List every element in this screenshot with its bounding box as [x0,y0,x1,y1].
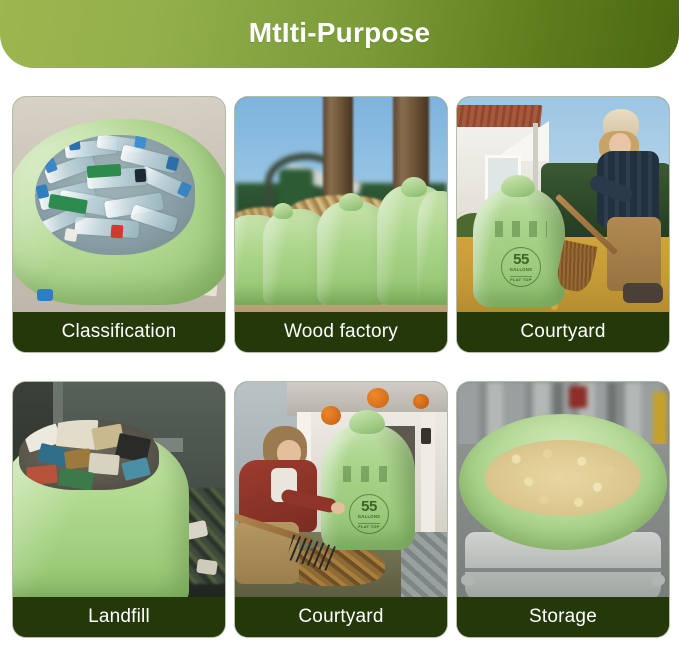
trousers [607,217,661,291]
bag-knot [273,203,293,219]
red-object [569,386,587,408]
pumpkin [367,388,389,408]
seal-size-number: 55 [513,252,529,267]
bag-mouth-refuse [19,420,159,490]
bag-opening-with-bottles [35,135,195,255]
green-bag [417,191,447,305]
use-case-grid: Classification [13,97,669,637]
card-label: Classification [13,312,225,352]
yellow-post [653,392,667,450]
seal-size-unit: GALLONS [358,515,381,519]
hand [331,502,345,514]
photo-classification [13,97,225,316]
bag-printed-icons [343,466,397,482]
use-case-card-wood-factory[interactable]: Wood factory [235,97,447,352]
drum-rib [465,568,661,572]
card-label-text: Courtyard [520,321,605,343]
card-label: Wood factory [235,312,447,352]
bag-knot [401,177,427,197]
bag-printed-icons [495,221,547,237]
card-label: Landfill [13,597,225,637]
card-label-text: Landfill [88,606,150,628]
seal-style: FLAT TOP [510,276,532,282]
photo-storage [457,382,669,601]
drum-handle [461,574,475,586]
card-label-text: Courtyard [298,606,383,628]
bag-knot [501,175,535,197]
seal-size-number: 55 [361,499,377,514]
page-header-banner: MtIti-Purpose [0,0,679,68]
background-refuse-highlight [196,559,218,576]
photo-courtyard-bottom: 55 GALLONS FLAT TOP [235,382,447,601]
seal-style: FLAT TOP [358,523,380,529]
pumpkin [413,394,429,409]
seal-size-unit: GALLONS [510,268,533,272]
porch-lantern [421,428,431,444]
photo-wood-factory [235,97,447,316]
photo-landfill [13,382,225,601]
page-title: MtIti-Purpose [249,17,430,49]
card-label-text: Wood factory [284,321,398,343]
use-case-card-storage[interactable]: Storage [457,382,669,637]
card-label: Courtyard [235,597,447,637]
bag-knot [349,410,385,434]
bag-size-seal: 55 GALLONS FLAT TOP [501,247,541,287]
pumpkin [321,406,341,425]
soybeans [485,440,641,516]
card-label-text: Classification [62,321,177,343]
drum-handle [651,574,665,586]
bag-size-seal: 55 GALLONS FLAT TOP [349,494,389,534]
card-label: Storage [457,597,669,637]
use-case-card-landfill[interactable]: Landfill [13,382,225,637]
bag-knot [339,193,363,211]
use-case-card-courtyard-bottom[interactable]: 55 GALLONS FLAT TOP Courtyard [235,382,447,637]
card-label: Courtyard [457,312,669,352]
use-case-card-classification[interactable]: Classification [13,97,225,352]
photo-courtyard-top: 55 GALLONS FLAT TOP [457,97,669,316]
card-label-text: Storage [529,606,597,628]
loose-bottle-cap [37,289,53,301]
use-case-card-courtyard-top[interactable]: 55 GALLONS FLAT TOP Courtyard [457,97,669,352]
boot [623,283,663,303]
